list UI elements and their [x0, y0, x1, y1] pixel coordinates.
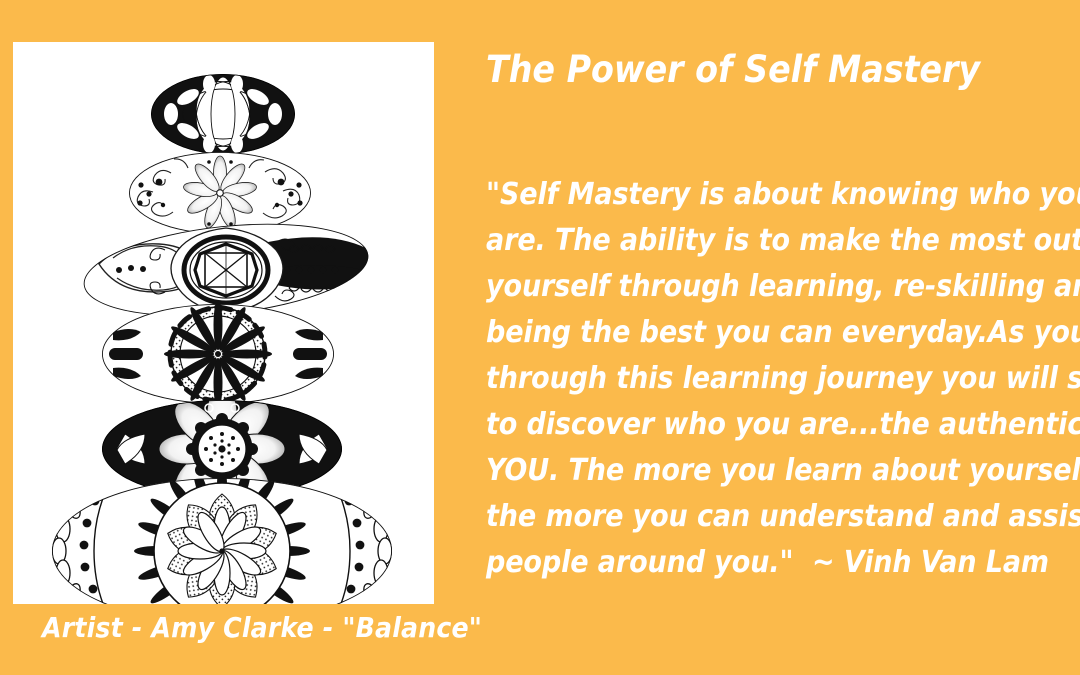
page-title: The Power of Self Mastery — [486, 47, 1066, 93]
quote-line: being the best you can everyday.As you g… — [486, 310, 1072, 356]
artwork-panel — [13, 42, 434, 604]
stone-2 — [129, 152, 311, 234]
quote-line: yourself through learning, re-skilling a… — [486, 264, 1072, 310]
balance-stones-artwork — [13, 42, 434, 604]
quote-block: "Self Mastery is about knowing who you a… — [486, 172, 1072, 586]
quote-line: to discover who you are...the authentic — [486, 402, 1072, 448]
quote-line: the more you can understand and assist t… — [486, 494, 1072, 540]
quote-line: are. The ability is to make the most out… — [486, 218, 1072, 264]
artwork-caption: Artist - Amy Clarke - "Balance" — [42, 609, 482, 647]
stone-1 — [151, 74, 295, 154]
quote-line: "Self Mastery is about knowing who you — [486, 172, 1072, 218]
slide-canvas: Artist - Amy Clarke - "Balance" The Powe… — [0, 0, 1080, 675]
quote-line: through this learning journey you will s… — [486, 356, 1072, 402]
quote-line: people around you." ~ Vinh Van Lam — [486, 540, 1072, 586]
quote-line: YOU. The more you learn about yourself — [486, 448, 1072, 494]
